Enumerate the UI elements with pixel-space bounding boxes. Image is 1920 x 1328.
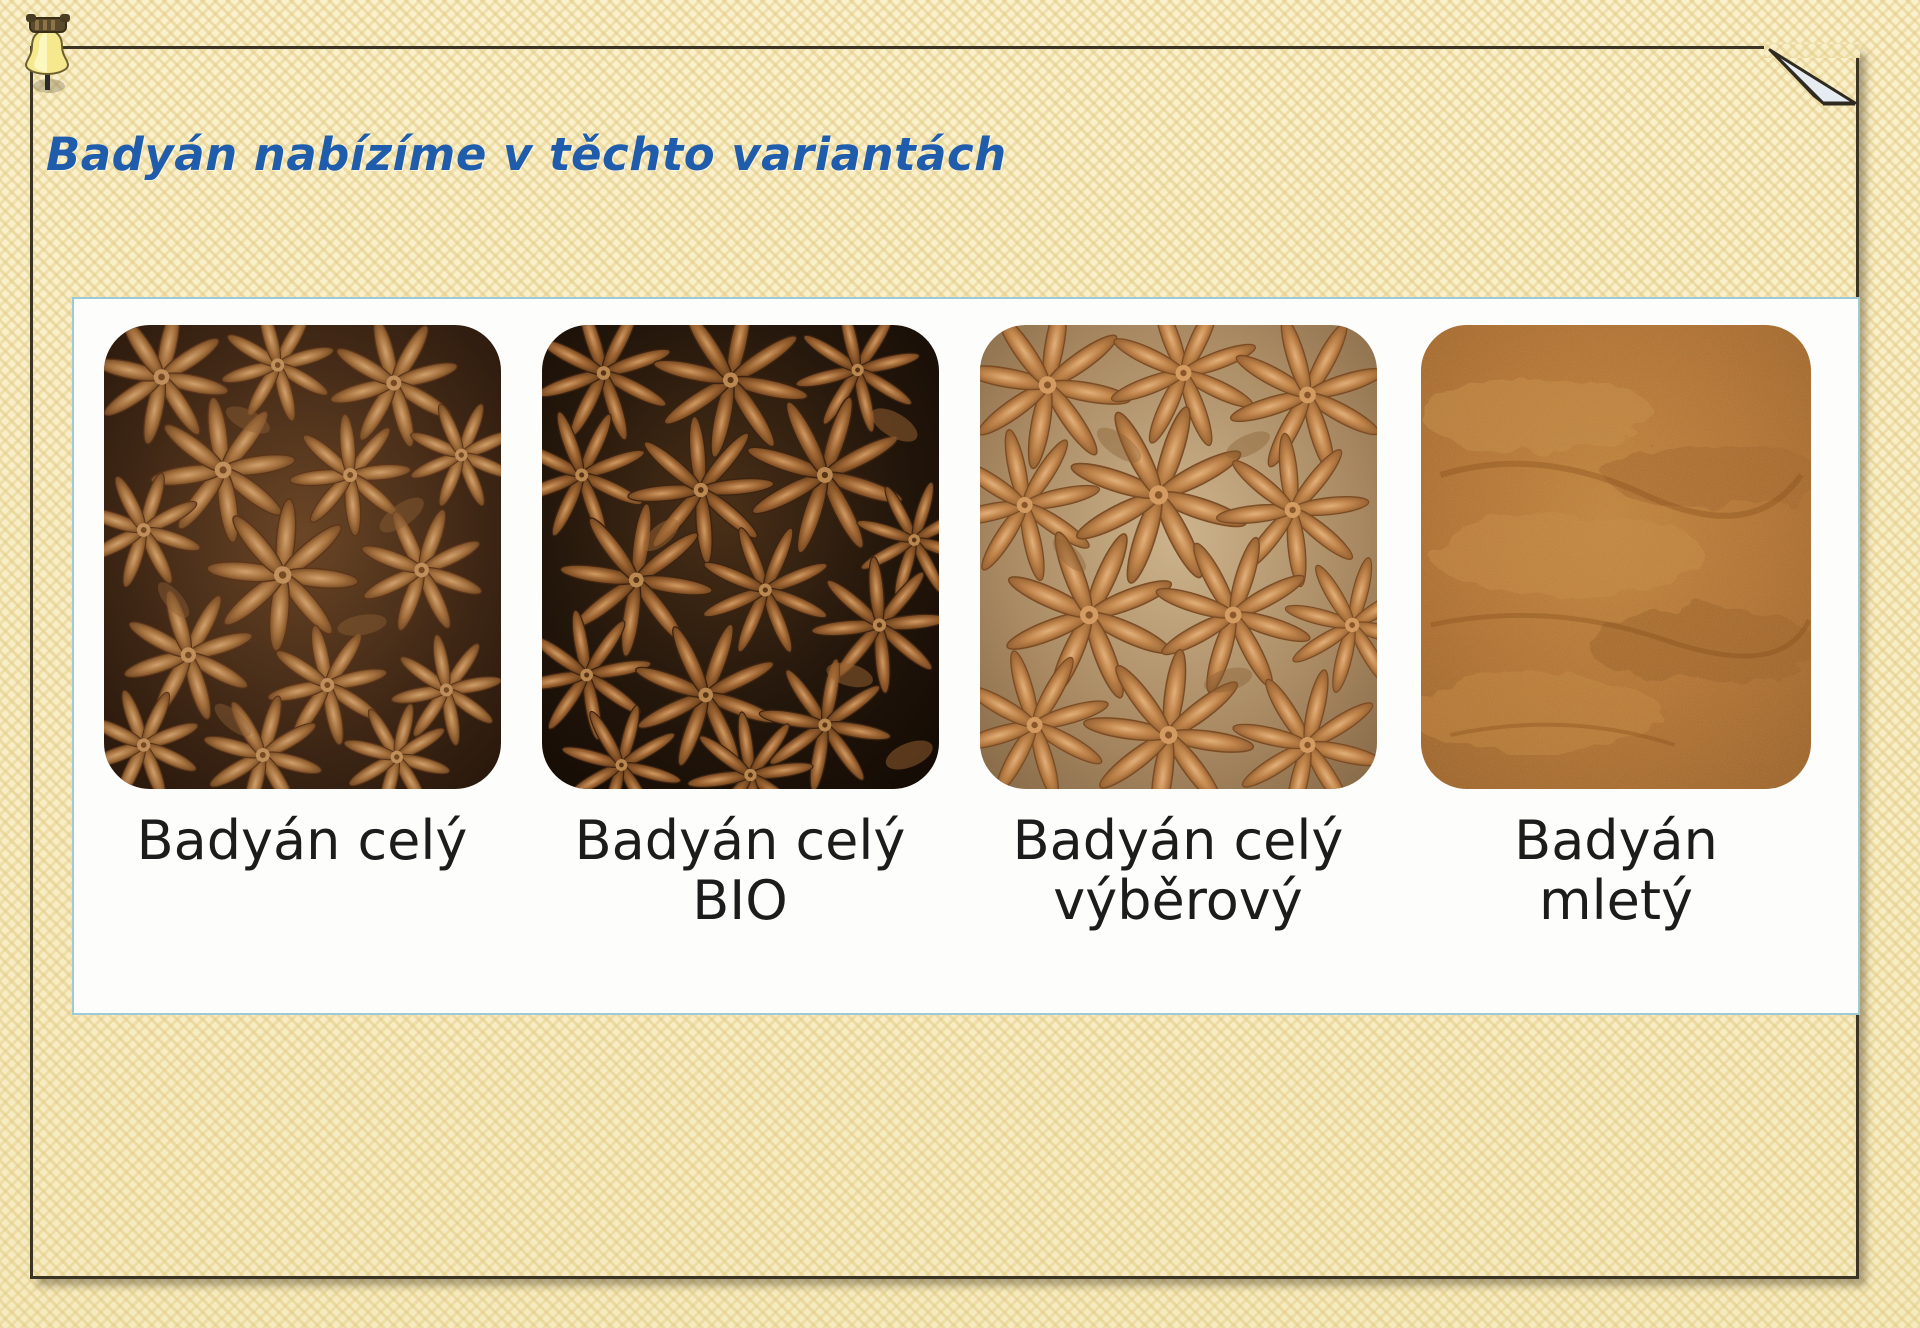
star-anise-select-photo [980, 325, 1377, 789]
product-card-list: Badyán celý [74, 299, 1858, 1013]
product-card-badyan-cely-vyberovy[interactable]: Badyán celý výběrový [978, 325, 1378, 932]
star-anise-ground-powder-photo [1421, 325, 1811, 789]
product-card-badyan-cely-bio[interactable]: Badyán celý BIO [540, 325, 940, 932]
slide-canvas: Badyán nabízíme v těchto variantách [0, 0, 1920, 1328]
pushpin-icon [16, 8, 78, 100]
product-caption: Badyán celý BIO [575, 811, 906, 932]
product-card-badyan-mlety[interactable]: Badyán mletý [1416, 325, 1816, 932]
star-anise-whole-bio-photo [542, 325, 939, 789]
star-anise-whole-photo [104, 325, 501, 789]
page-curl-icon [1767, 46, 1859, 126]
product-caption: Badyán celý výběrový [1013, 811, 1344, 932]
product-card-badyan-cely[interactable]: Badyán celý [102, 325, 502, 871]
picture-panel: Badyán celý [72, 297, 1860, 1015]
product-caption: Badyán mletý [1514, 811, 1718, 932]
product-caption: Badyán celý [137, 811, 468, 871]
page-title: Badyán nabízíme v těchto variantách [46, 128, 1007, 181]
